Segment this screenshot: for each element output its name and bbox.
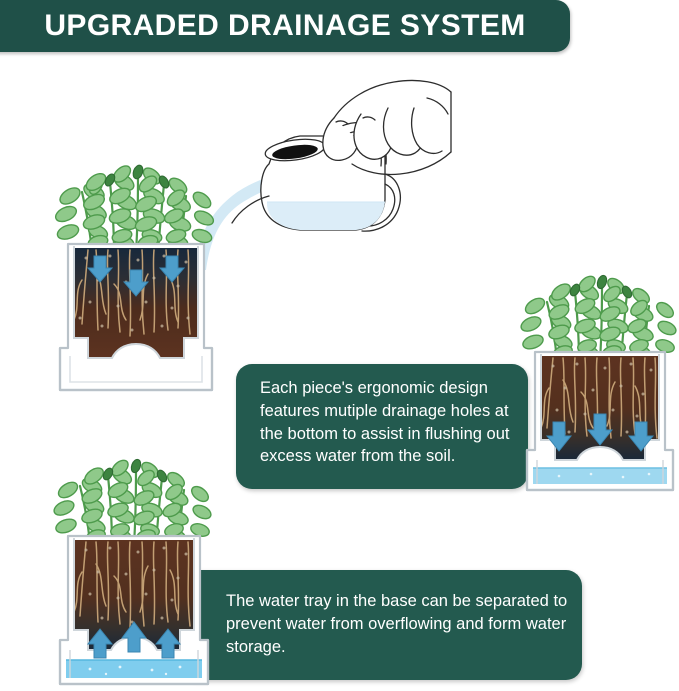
product-infographic: UPGRADED DRAINAGE SYSTEM — [0, 0, 679, 691]
watering-can-illustration — [222, 78, 452, 268]
callout-water-tray: The water tray in the base can be separa… — [180, 570, 582, 680]
callout-drainage-holes: Each piece's ergonomic design features m… — [236, 364, 528, 489]
page-title: UPGRADED DRAINAGE SYSTEM — [30, 11, 525, 41]
planter-right — [519, 264, 679, 498]
title-banner: UPGRADED DRAINAGE SYSTEM — [0, 0, 570, 52]
planter-top-left — [52, 152, 220, 400]
callout-drainage-holes-text: Each piece's ergonomic design features m… — [260, 377, 516, 468]
callout-water-tray-text: The water tray in the base can be separa… — [226, 590, 568, 658]
reservoir-water — [66, 660, 202, 678]
tray-water — [533, 468, 667, 484]
planter-bottom-left — [52, 444, 216, 691]
